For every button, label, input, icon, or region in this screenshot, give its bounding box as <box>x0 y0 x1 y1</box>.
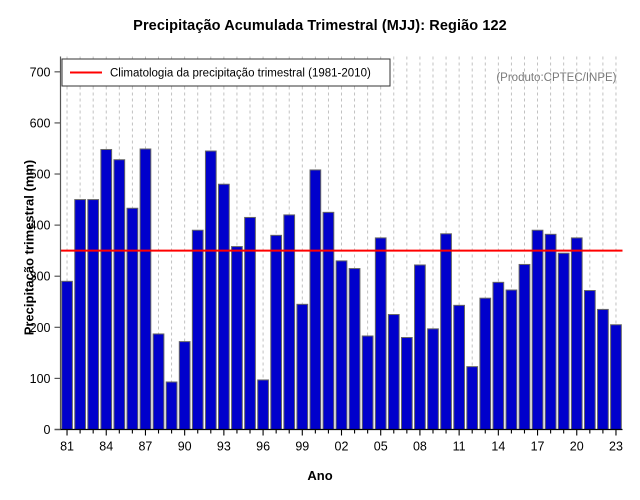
bar <box>441 234 452 430</box>
y-tick-label: 600 <box>30 116 51 130</box>
bar <box>401 338 412 430</box>
bar <box>179 342 190 430</box>
x-tick-label: 02 <box>335 440 349 454</box>
bar <box>571 238 582 430</box>
y-tick-label: 200 <box>30 321 51 335</box>
chart-plot-area: 0100200300400500600700 81848790939699020… <box>0 0 640 500</box>
bar <box>271 235 282 429</box>
bar <box>428 329 439 430</box>
bar <box>297 304 308 429</box>
legend-box: Climatologia da precipitação trimestral … <box>62 59 390 86</box>
bar <box>323 212 334 429</box>
bar <box>415 265 426 430</box>
x-tick-label: 84 <box>99 440 113 454</box>
y-tick-label: 400 <box>30 219 51 233</box>
bar <box>245 217 256 429</box>
bar <box>153 334 164 430</box>
chart-figure: Precipitação Acumulada Trimestral (MJJ):… <box>0 0 640 500</box>
bar <box>62 281 73 429</box>
credit-label: (Produto:CPTEC/INPE) <box>496 72 616 84</box>
y-tick-label: 0 <box>44 423 51 437</box>
bar <box>362 336 373 430</box>
bar <box>454 305 465 429</box>
bar <box>493 282 504 429</box>
bar <box>532 230 543 429</box>
bar <box>101 149 112 429</box>
bar <box>519 264 530 429</box>
bar <box>506 290 517 429</box>
x-tick-label: 81 <box>60 440 74 454</box>
bar <box>310 170 321 430</box>
bar <box>205 151 216 429</box>
bar <box>140 149 151 430</box>
bar <box>192 230 203 429</box>
bar <box>467 367 478 430</box>
x-tick-label: 20 <box>570 440 584 454</box>
bar <box>584 291 595 430</box>
bar <box>114 160 125 430</box>
bar <box>336 261 347 430</box>
bar <box>284 215 295 430</box>
x-tick-label: 11 <box>453 440 466 454</box>
bar <box>388 315 399 430</box>
bar <box>166 382 177 430</box>
y-tick-label: 300 <box>30 270 51 284</box>
bar <box>232 247 243 430</box>
bar <box>598 309 609 429</box>
y-tick-label: 100 <box>30 372 51 386</box>
bar <box>480 298 491 429</box>
x-tick-label: 17 <box>531 440 545 454</box>
credit-annotation: (Produto:CPTEC/INPE) <box>496 72 616 84</box>
x-tick-label: 96 <box>256 440 270 454</box>
bar <box>558 253 569 429</box>
bar <box>349 269 360 430</box>
x-tick-label: 05 <box>374 440 388 454</box>
bar <box>219 184 230 429</box>
bar <box>545 234 556 429</box>
x-ticks-group: 818487909396990205081114172023 <box>60 430 623 454</box>
x-tick-label: 99 <box>295 440 309 454</box>
y-ticks-group: 0100200300400500600700 <box>30 65 61 437</box>
y-tick-label: 700 <box>30 65 51 79</box>
legend-label: Climatologia da precipitação trimestral … <box>110 68 371 80</box>
x-tick-label: 93 <box>217 440 231 454</box>
x-tick-label: 87 <box>138 440 152 454</box>
bar <box>258 380 269 430</box>
y-tick-label: 500 <box>30 168 51 182</box>
bar <box>75 200 86 430</box>
x-tick-label: 14 <box>491 440 505 454</box>
x-tick-label: 23 <box>609 440 623 454</box>
x-tick-label: 08 <box>413 440 427 454</box>
x-tick-label: 90 <box>178 440 192 454</box>
bar <box>88 200 99 430</box>
bar <box>375 238 386 430</box>
bar <box>127 208 138 429</box>
bar <box>611 325 622 430</box>
